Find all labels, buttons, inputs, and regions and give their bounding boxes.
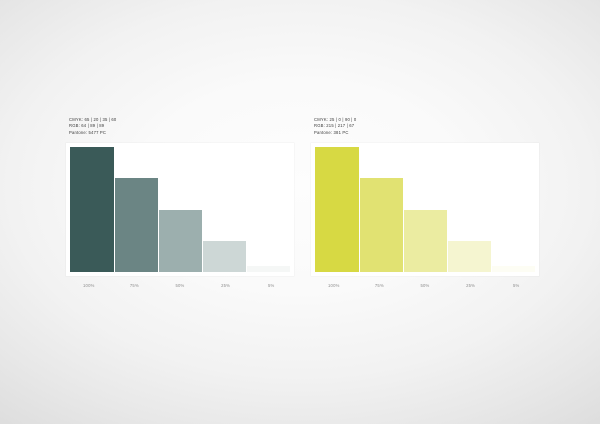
- swatch-yellow-green: CMYK: 25 | 0 | 90 | 0 RGB: 215 | 217 | 6…: [311, 117, 539, 288]
- tick-rule: [202, 147, 203, 272]
- axis-label-50: 50%: [402, 283, 448, 288]
- tint-column: [403, 147, 447, 272]
- tint-bar-25: [202, 241, 246, 272]
- tint-column: [158, 147, 202, 272]
- axis-label-100: 100%: [311, 283, 357, 288]
- tint-bar-5: [246, 266, 290, 272]
- axis-label-75: 75%: [357, 283, 403, 288]
- tint-column: [202, 147, 246, 272]
- tint-column: [447, 147, 491, 272]
- axis-label-25: 25%: [203, 283, 249, 288]
- spec-block-dark-teal: CMYK: 65 | 20 | 35 | 60 RGB: 64 | 89 | 8…: [69, 117, 294, 136]
- tick-rule: [491, 147, 492, 272]
- tint-bar-5: [491, 266, 535, 272]
- pantone-value: Pantone: 5477 PC: [69, 130, 294, 136]
- axis-label-100: 100%: [66, 283, 112, 288]
- tint-bar-50: [403, 210, 447, 273]
- tint-bar-75: [114, 178, 158, 272]
- axis-label-75: 75%: [112, 283, 158, 288]
- tick-rule: [359, 147, 360, 272]
- tick-rule: [246, 147, 247, 272]
- axis-label-50: 50%: [157, 283, 203, 288]
- axis-label-5: 5%: [248, 283, 294, 288]
- tint-column: [359, 147, 403, 272]
- tint-column: [114, 147, 158, 272]
- axis-label-25: 25%: [448, 283, 494, 288]
- axis-labels-yellow-green: 100% 75% 50% 25% 5%: [311, 283, 539, 288]
- color-specification-sheet: CMYK: 65 | 20 | 35 | 60 RGB: 64 | 89 | 8…: [0, 0, 600, 424]
- tint-chart-yellow-green: [311, 143, 539, 276]
- tick-rule: [403, 147, 404, 272]
- tint-bar-100: [70, 147, 114, 272]
- tint-column: [491, 147, 535, 272]
- tint-bar-50: [158, 210, 202, 273]
- tint-bar-25: [447, 241, 491, 272]
- tint-bar-75: [359, 178, 403, 272]
- spec-block-yellow-green: CMYK: 25 | 0 | 90 | 0 RGB: 215 | 217 | 6…: [314, 117, 539, 136]
- tick-rule: [114, 147, 115, 272]
- tick-rule: [447, 147, 448, 272]
- tint-bar-100: [315, 147, 359, 272]
- tint-column: [315, 147, 359, 272]
- tint-chart-dark-teal: [66, 143, 294, 276]
- tick-rule: [158, 147, 159, 272]
- swatch-dark-teal: CMYK: 65 | 20 | 35 | 60 RGB: 64 | 89 | 8…: [66, 117, 294, 288]
- tint-column: [70, 147, 114, 272]
- axis-labels-dark-teal: 100% 75% 50% 25% 5%: [66, 283, 294, 288]
- tint-column: [246, 147, 290, 272]
- pantone-value: Pantone: 381 PC: [314, 130, 539, 136]
- axis-label-5: 5%: [493, 283, 539, 288]
